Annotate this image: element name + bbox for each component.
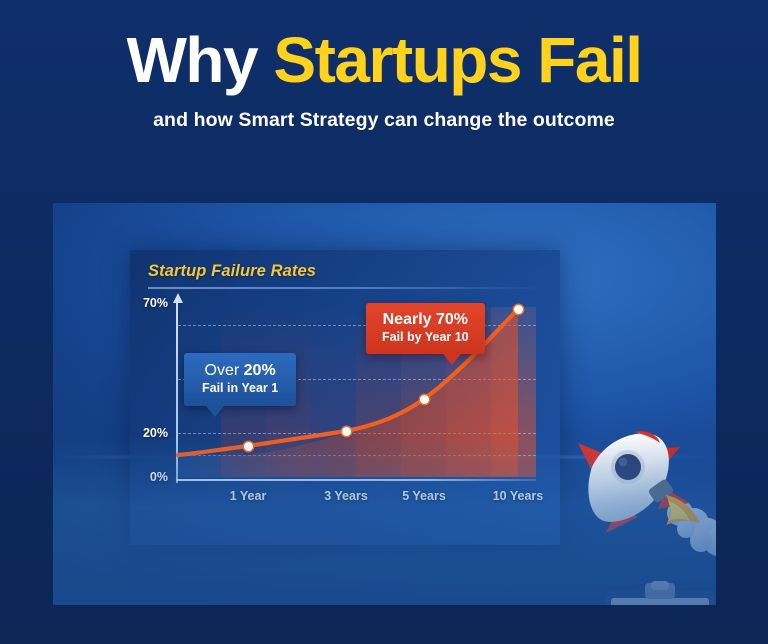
- illustration-panel: FAILED: [53, 203, 716, 605]
- x-tick-label: 1 Year: [230, 489, 267, 503]
- x-tick-label: 3 Years: [324, 489, 368, 503]
- annotation-year-1-sub: Fail in Year 1: [202, 381, 278, 396]
- page-title: Why Startups Fail: [0, 28, 768, 93]
- chart-title: Startup Failure Rates: [148, 262, 316, 281]
- data-point: [244, 442, 253, 451]
- y-tick-label: 70%: [143, 296, 168, 310]
- page-subtitle: and how Smart Strategy can change the ou…: [0, 109, 768, 132]
- horizon-line: [53, 456, 716, 458]
- annotation-year-10-sub: Fail by Year 10: [382, 330, 469, 345]
- title-word-startups-fail: Startups Fail: [273, 24, 641, 96]
- y-tick-label: 0%: [150, 470, 168, 484]
- annotation-year-10: Nearly 70% Fail by Year 10: [366, 303, 485, 354]
- x-tick-label: 5 Years: [402, 489, 446, 503]
- poster-canvas: Why Startups Fail and how Smart Strategy…: [0, 0, 768, 644]
- annotation-year-1-pointer: [206, 406, 224, 417]
- y-axis-arrow-icon: [173, 293, 183, 303]
- title-word-why: Why: [127, 24, 274, 96]
- annotation-year-10-value: 70%: [436, 311, 468, 328]
- chart-title-rule: [148, 287, 542, 289]
- rocket-icon: [558, 421, 716, 556]
- annotation-year-10-headline: Nearly 70%: [382, 311, 469, 329]
- poster-header: Why Startups Fail and how Smart Strategy…: [0, 28, 768, 132]
- y-tick-label: 20%: [143, 426, 168, 440]
- data-point: [420, 395, 429, 404]
- x-axis: [176, 479, 536, 481]
- x-tick-label: 10 Years: [493, 489, 544, 503]
- annotation-year-10-prefix: Nearly: [383, 311, 436, 328]
- annotation-year-10-pointer: [443, 354, 461, 365]
- data-point: [342, 427, 351, 436]
- annotation-year-1-value: 20%: [244, 362, 276, 379]
- annotation-year-1: Over 20% Fail in Year 1: [184, 353, 296, 406]
- annotation-year-1-headline: Over 20%: [202, 362, 278, 380]
- gridline: [178, 455, 536, 456]
- clipboard-failed: FAILED: [601, 581, 716, 605]
- data-point: [514, 305, 523, 314]
- annotation-year-1-prefix: Over: [205, 362, 244, 379]
